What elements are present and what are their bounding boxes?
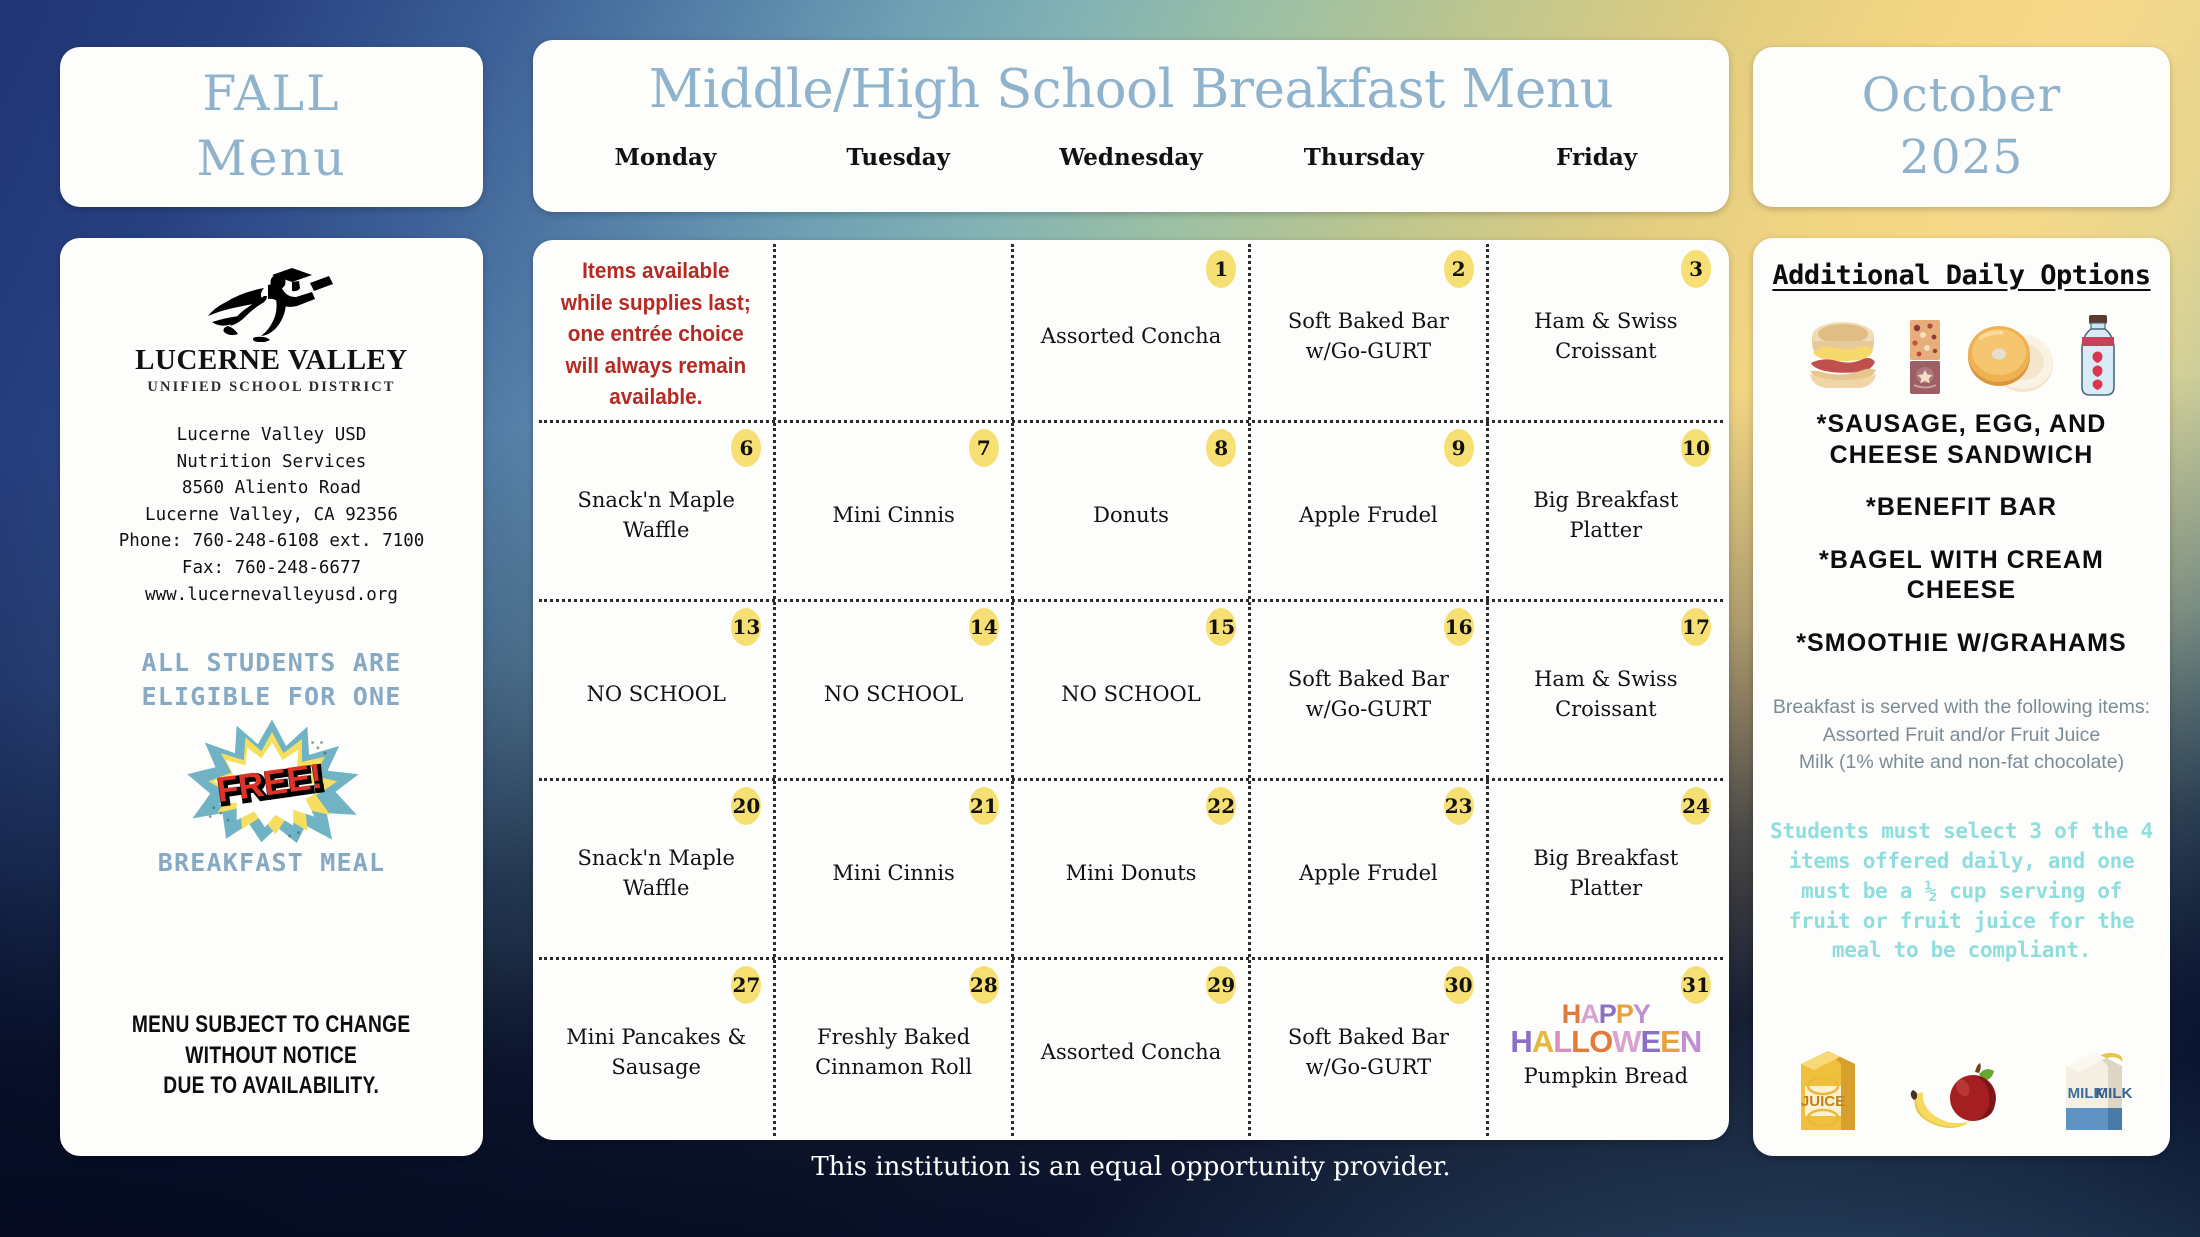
- menu-item-text: NO SCHOOL: [586, 680, 725, 710]
- bagel-icon: [1965, 321, 2057, 397]
- weekday-thursday: Thursday: [1247, 144, 1480, 171]
- running-graduate-icon: [206, 266, 338, 342]
- menu-item-text: Mini Donuts: [1066, 859, 1197, 889]
- calendar-day-cell[interactable]: 21Mini Cinnis: [776, 781, 1013, 957]
- season-line-2: Menu: [196, 127, 346, 192]
- calendar-grid: Items available while supplies last; one…: [533, 240, 1729, 1140]
- availability-note-text: Items available while supplies last; one…: [560, 255, 753, 413]
- calendar-day-cell[interactable]: 20Snack'n Maple Waffle: [539, 781, 776, 957]
- day-number-badge: 27: [731, 966, 761, 1004]
- calendar-day-cell[interactable]: 2Soft Baked Bar w/Go-GURT: [1251, 244, 1488, 420]
- day-number-badge: 13: [731, 608, 761, 646]
- calendar-day-cell[interactable]: 30Soft Baked Bar w/Go-GURT: [1251, 960, 1488, 1136]
- juice-carton-icon: JUICE: [1785, 1042, 1871, 1138]
- weekday-wednesday: Wednesday: [1015, 144, 1248, 171]
- calendar-day-cell[interactable]: 16Soft Baked Bar w/Go-GURT: [1251, 602, 1488, 778]
- phone-line: Phone: 760-248-6108 ext. 7100: [119, 528, 425, 555]
- district-logo-name: LUCERNE VALLEY: [135, 346, 408, 375]
- day-number-badge: 23: [1444, 787, 1474, 825]
- district-logo: LUCERNE VALLEY UNIFIED SCHOOL DISTRICT: [135, 266, 408, 396]
- address-line: Lucerne Valley USD: [119, 422, 425, 449]
- menu-item-text: Ham & Swiss Croissant: [1501, 307, 1711, 367]
- calendar-day-cell[interactable]: 17Ham & Swiss Croissant: [1489, 602, 1723, 778]
- menu-page: FALL Menu: [0, 0, 2200, 1237]
- eligibility-line-2: ELIGIBLE FOR ONE: [78, 680, 465, 714]
- calendar-week-row: 27Mini Pancakes & Sausage28Freshly Baked…: [539, 960, 1723, 1136]
- day-number-badge: 22: [1206, 787, 1236, 825]
- calendar-day-cell[interactable]: 15NO SCHOOL: [1014, 602, 1251, 778]
- calendar-day-cell[interactable]: 28Freshly Baked Cinnamon Roll: [776, 960, 1013, 1136]
- day-number-badge: 17: [1681, 608, 1711, 646]
- eligibility-line-3: BREAKFAST MEAL: [78, 846, 465, 880]
- menu-item-text: Mini Cinnis: [832, 859, 954, 889]
- address-line: Lucerne Valley, CA 92356: [119, 502, 425, 529]
- calendar-week-row: 6Snack'n Maple Waffle7Mini Cinnis8Donuts…: [539, 423, 1723, 602]
- day-number-badge: 2: [1444, 250, 1474, 288]
- calendar-day-cell[interactable]: 7Mini Cinnis: [776, 423, 1013, 599]
- calendar-day-cell[interactable]: 29Assorted Concha: [1014, 960, 1251, 1136]
- district-info-card: LUCERNE VALLEY UNIFIED SCHOOL DISTRICT L…: [60, 238, 483, 1156]
- calendar-week-row: 13NO SCHOOL14NO SCHOOL15NO SCHOOL16Soft …: [539, 602, 1723, 781]
- calendar-availability-note: Items available while supplies last; one…: [539, 244, 776, 420]
- menu-item-text: Assorted Concha: [1041, 322, 1221, 352]
- weekday-header-row: Monday Tuesday Wednesday Thursday Friday: [549, 144, 1713, 171]
- calendar-day-cell[interactable]: 22Mini Donuts: [1014, 781, 1251, 957]
- address-line: 8560 Aliento Road: [119, 475, 425, 502]
- menu-item-text: Big Breakfast Platter: [1501, 486, 1711, 546]
- day-number-badge: 28: [969, 966, 999, 1004]
- day-number-badge: 9: [1444, 429, 1474, 467]
- day-number-badge: 10: [1681, 429, 1711, 467]
- served-with-block: Breakfast is served with the following i…: [1773, 694, 2150, 777]
- menu-item-text: Snack'n Maple Waffle: [551, 486, 761, 546]
- menu-item-text: Mini Cinnis: [832, 501, 954, 531]
- menu-item-text: Ham & Swiss Croissant: [1501, 665, 1711, 725]
- day-number-badge: 16: [1444, 608, 1474, 646]
- fax-line: Fax: 760-248-6677: [119, 555, 425, 582]
- calendar-day-cell[interactable]: 6Snack'n Maple Waffle: [539, 423, 776, 599]
- menu-item-text: Apple Frudel: [1299, 859, 1438, 889]
- day-number-badge: 14: [969, 608, 999, 646]
- menu-disclaimer: MENU SUBJECT TO CHANGE WITHOUT NOTICE DU…: [132, 1010, 411, 1102]
- calendar-day-cell[interactable]: 10Big Breakfast Platter: [1489, 423, 1723, 599]
- svg-text:MILK: MILK: [2095, 1085, 2132, 1102]
- calendar-day-cell[interactable]: 27Mini Pancakes & Sausage: [539, 960, 776, 1136]
- menu-item-text: NO SCHOOL: [824, 680, 963, 710]
- month-card: October 2025: [1753, 47, 2170, 207]
- weekday-tuesday: Tuesday: [782, 144, 1015, 171]
- month-year: 2025: [1900, 127, 2024, 189]
- served-with-line: Milk (1% white and non-fat chocolate): [1773, 749, 2150, 777]
- calendar-week-row: 20Snack'n Maple Waffle21Mini Cinnis22Min…: [539, 781, 1723, 960]
- district-logo-subtitle: UNIFIED SCHOOL DISTRICT: [135, 379, 408, 396]
- day-number-badge: 1: [1206, 250, 1236, 288]
- day-number-badge: 6: [731, 429, 761, 467]
- svg-text:JUICE: JUICE: [1801, 1093, 1845, 1110]
- calendar-day-cell[interactable]: 13NO SCHOOL: [539, 602, 776, 778]
- menu-item-text: Soft Baked Bar w/Go-GURT: [1264, 307, 1474, 367]
- district-address: Lucerne Valley USD Nutrition Services 85…: [119, 422, 425, 608]
- menu-item-text: Snack'n Maple Waffle: [551, 844, 761, 904]
- daily-option-item: *BENEFIT BAR: [1767, 492, 2156, 523]
- menu-item-text: Donuts: [1093, 501, 1169, 531]
- menu-header-card: Middle/High School Breakfast Menu Monday…: [533, 40, 1729, 212]
- banana-apple-icon: [1907, 1060, 2013, 1138]
- calendar-day-cell[interactable]: 8Donuts: [1014, 423, 1251, 599]
- additional-options-title: Additional Daily Options: [1772, 260, 2150, 291]
- daily-option-item: *SAUSAGE, EGG, AND CHEESE SANDWICH: [1767, 409, 2156, 470]
- website-line[interactable]: www.lucernevalleyusd.org: [119, 582, 425, 609]
- menu-item-text: NO SCHOOL: [1061, 680, 1200, 710]
- day-number-badge: 7: [969, 429, 999, 467]
- disclaimer-line: WITHOUT NOTICE: [132, 1041, 411, 1072]
- daily-options-list: *SAUSAGE, EGG, AND CHEESE SANDWICH *BENE…: [1767, 409, 2156, 680]
- day-number-badge: 8: [1206, 429, 1236, 467]
- menu-title: Middle/High School Breakfast Menu: [549, 62, 1713, 118]
- eligibility-block: ALL STUDENTS ARE ELIGIBLE FOR ONE: [78, 646, 465, 879]
- day-number-badge: 21: [969, 787, 999, 825]
- calendar-day-cell[interactable]: 1Assorted Concha: [1014, 244, 1251, 420]
- day-number-badge: 30: [1444, 966, 1474, 1004]
- calendar-day-cell[interactable]: 3Ham & Swiss Croissant: [1489, 244, 1723, 420]
- daily-option-item: *BAGEL WITH CREAM CHEESE: [1767, 545, 2156, 606]
- day-number-badge: 20: [731, 787, 761, 825]
- happy-halloween-art: HAPPYHALLOWEEN: [1510, 1002, 1701, 1057]
- menu-item-text: Soft Baked Bar w/Go-GURT: [1264, 1023, 1474, 1083]
- compliance-note: Students must select 3 of the 4 items of…: [1767, 817, 2156, 966]
- season-card: FALL Menu: [60, 47, 483, 207]
- daily-option-icons: [1801, 305, 2123, 397]
- eligibility-line-1: ALL STUDENTS ARE: [78, 646, 465, 680]
- granola-bar-icon: [1901, 317, 1949, 397]
- served-with-line: Assorted Fruit and/or Fruit Juice: [1773, 722, 2150, 750]
- menu-item-text: Big Breakfast Platter: [1501, 844, 1711, 904]
- calendar-day-cell[interactable]: 14NO SCHOOL: [776, 602, 1013, 778]
- calendar-day-cell[interactable]: 23Apple Frudel: [1251, 781, 1488, 957]
- menu-item-text: Pumpkin Bread: [1524, 1062, 1689, 1092]
- weekday-friday: Friday: [1480, 144, 1713, 171]
- day-number-badge: 3: [1681, 250, 1711, 288]
- smoothie-bottle-icon: [2073, 313, 2123, 397]
- breakfast-sandwich-icon: [1801, 319, 1885, 397]
- day-number-badge: 15: [1206, 608, 1236, 646]
- daily-option-item: *SMOOTHIE W/GRAHAMS: [1767, 628, 2156, 659]
- menu-item-text: Mini Pancakes & Sausage: [551, 1023, 761, 1083]
- disclaimer-line: MENU SUBJECT TO CHANGE: [132, 1010, 411, 1041]
- calendar-empty-cell: [776, 244, 1013, 420]
- served-with-line: Breakfast is served with the following i…: [1773, 694, 2150, 722]
- calendar-day-cell[interactable]: 24Big Breakfast Platter: [1489, 781, 1723, 957]
- day-number-badge: 24: [1681, 787, 1711, 825]
- calendar-day-cell[interactable]: 31HAPPYHALLOWEENPumpkin Bread: [1489, 960, 1723, 1136]
- menu-item-text: Freshly Baked Cinnamon Roll: [789, 1023, 999, 1083]
- additional-options-card: Additional Daily Options: [1753, 238, 2170, 1156]
- menu-item-text: Apple Frudel: [1299, 501, 1438, 531]
- weekday-monday: Monday: [549, 144, 782, 171]
- season-line-1: FALL: [202, 62, 340, 127]
- address-line: Nutrition Services: [119, 449, 425, 476]
- day-number-badge: 31: [1681, 966, 1711, 1004]
- month-name: October: [1862, 65, 2061, 127]
- calendar-day-cell[interactable]: 9Apple Frudel: [1251, 423, 1488, 599]
- free-starburst-icon: FREE! FREE!: [182, 716, 362, 844]
- day-number-badge: 29: [1206, 966, 1236, 1004]
- menu-item-text: Assorted Concha: [1041, 1038, 1221, 1068]
- meal-component-icons: JUICE MILK MILK: [1767, 1034, 2156, 1138]
- equal-opportunity-footer: This institution is an equal opportunity…: [533, 1152, 1729, 1182]
- disclaimer-line: DUE TO AVAILABILITY.: [132, 1071, 411, 1102]
- milk-carton-icon: MILK MILK: [2050, 1042, 2138, 1138]
- calendar-week-row: Items available while supplies last; one…: [539, 244, 1723, 423]
- menu-item-text: Soft Baked Bar w/Go-GURT: [1264, 665, 1474, 725]
